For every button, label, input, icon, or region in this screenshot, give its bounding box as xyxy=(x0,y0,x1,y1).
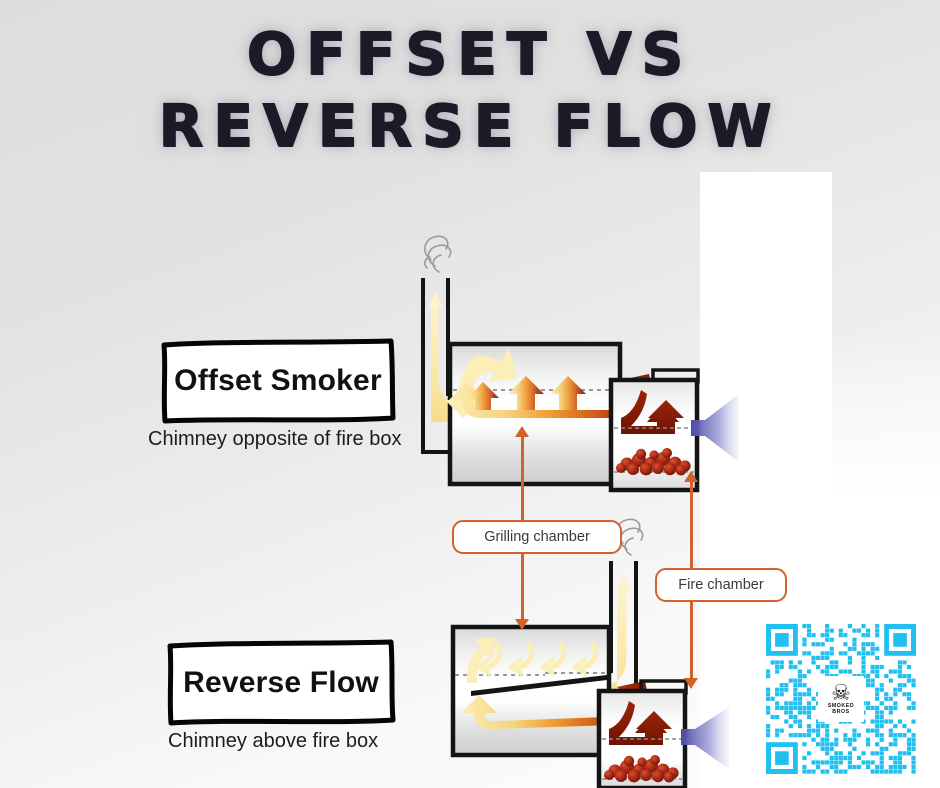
callout-fire-chamber-label: Fire chamber xyxy=(678,577,763,593)
grilling-chamber-arrowhead-up xyxy=(515,426,529,437)
fire-chamber-leader-upper xyxy=(690,480,693,568)
grilling-chamber-leader-lower xyxy=(521,550,524,622)
offset-smoker-label-text: Offset Smoker xyxy=(160,338,396,424)
callout-grilling-chamber-label: Grilling chamber xyxy=(484,529,590,545)
air-intake-arrow-reverse xyxy=(681,707,729,769)
qr-brand-logo: ☠ SMOKED BROS xyxy=(818,676,864,722)
qr-brand-line-2: BROS xyxy=(832,709,849,715)
grilling-chamber-leader-upper xyxy=(521,435,524,520)
title-line-2: REVERSE FLOW xyxy=(0,90,940,162)
callout-fire-chamber: Fire chamber xyxy=(655,568,787,602)
fire-chamber-arrowhead-up xyxy=(684,471,698,482)
offset-smoker-caption: Chimney opposite of fire box xyxy=(148,428,401,451)
smoke-wisps xyxy=(425,236,451,272)
reverse-flow-caption: Chimney above fire box xyxy=(168,730,378,753)
offset-smoker-label-box: Offset Smoker xyxy=(160,338,396,424)
skull-icon: ☠ xyxy=(831,683,851,703)
page-title: OFFSET VS REVERSE FLOW xyxy=(0,18,940,162)
reverse-flow-label-text: Reverse Flow xyxy=(167,640,395,726)
grilling-chamber-arrowhead-down xyxy=(515,619,529,630)
reverse-flow-diagram xyxy=(445,515,745,788)
reverse-flow-label-box: Reverse Flow xyxy=(167,640,395,726)
callout-grilling-chamber: Grilling chamber xyxy=(452,520,622,554)
qr-code[interactable]: ☠ SMOKED BROS xyxy=(766,624,916,774)
offset-smoker-diagram xyxy=(405,222,745,502)
infographic-canvas: OFFSET VS REVERSE FLOW Offset Smoker Chi… xyxy=(0,0,940,788)
fire-chamber-leader-lower xyxy=(690,598,693,681)
title-line-1: OFFSET VS xyxy=(0,18,940,90)
fire-chamber-arrowhead-down xyxy=(684,678,698,689)
